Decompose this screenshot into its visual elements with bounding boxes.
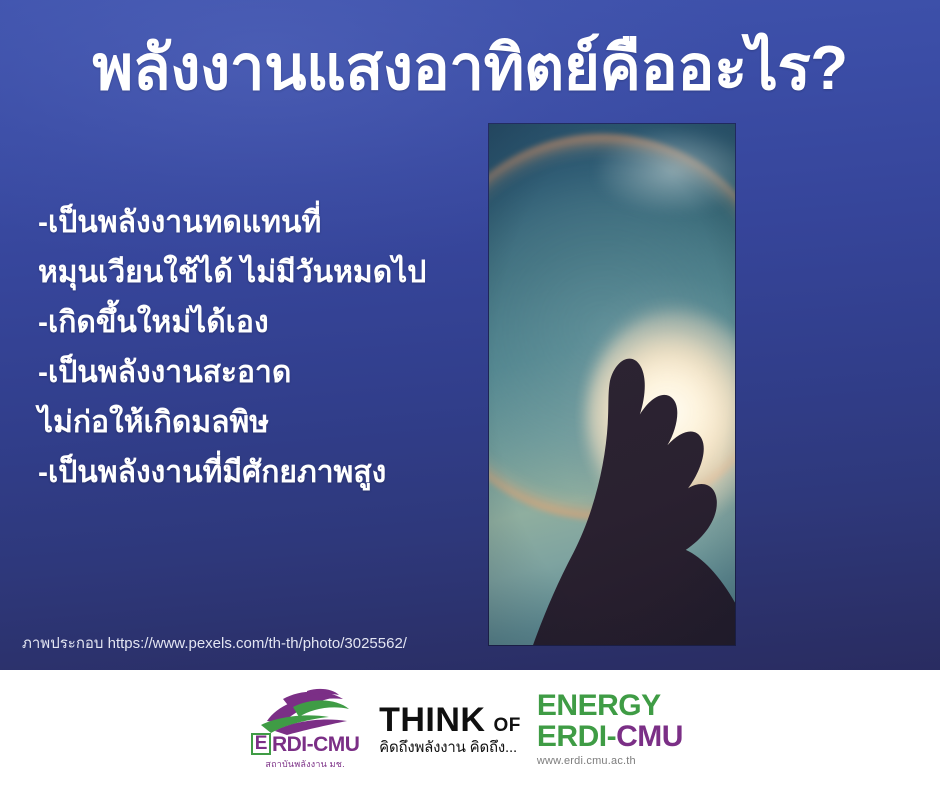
footer-logo-group: E RDI-CMU สถาบันพลังงาน มช. THINK OF คิด… [249,687,683,771]
globe-swoosh-icon [253,687,357,735]
think-word: THINK [379,702,485,738]
erdi-cmu-logo[interactable]: E RDI-CMU สถาบันพลังงาน มช. [249,687,361,771]
footer-bar: E RDI-CMU สถาบันพลังงาน มช. THINK OF คิด… [0,670,940,788]
erdi-thai-subtitle: สถาบันพลังงาน มช. [265,757,344,771]
energy-erdi-block: ENERGY ERDI-CMU www.erdi.cmu.ac.th [537,691,683,767]
poster-canvas: พลังงานแสงอาทิตย์คืออะไร? -เป็นพลังงานทด… [0,0,940,788]
erdi-website-url[interactable]: www.erdi.cmu.ac.th [537,755,683,767]
energy-word: ENERGY [537,691,683,721]
bullet-line-5: ไม่ก่อให้เกิดมลพิษ [38,398,468,448]
energy-cmu-purple: CMU [616,720,683,753]
erdi-wordmark: E RDI-CMU [251,733,360,755]
bullet-list: -เป็นพลังงานทดแทนที่ หมุนเวียนใช้ได้ ไม่… [38,198,468,498]
cloud-wisp [597,129,735,212]
source-caption: ภาพประกอบ https://www.pexels.com/th-th/p… [22,634,407,654]
photo-inner [489,124,735,645]
think-thai-subtitle: คิดถึงพลังงาน คิดถึง... [379,739,521,757]
bullet-line-6: -เป็นพลังงานที่มีศักยภาพสูง [38,448,468,498]
sun-halo-photo [489,124,735,645]
bullet-line-3: -เกิดขึ้นใหม่ได้เอง [38,298,468,348]
think-of-block: THINK OF คิดถึงพลังงาน คิดถึง... [379,702,521,757]
caption-thai-label: ภาพประกอบ [22,635,103,652]
erdi-wordmark-text: RDI-CMU [272,734,359,755]
bullet-line-4: -เป็นพลังงานสะอาด [38,348,468,398]
energy-erdi-cmu-line: ERDI-CMU [537,721,683,752]
caption-url[interactable]: https://www.pexels.com/th-th/photo/30255… [108,635,407,652]
page-title: พลังงานแสงอาทิตย์คืออะไร? [0,32,940,106]
hand-silhouette [509,353,735,645]
bullet-line-1: -เป็นพลังงานทดแทนที่ [38,198,468,248]
of-word: OF [494,715,521,737]
erdi-letter-e: E [251,733,271,755]
energy-erdi-green: ERDI- [537,720,616,753]
think-of-row: THINK OF [379,702,521,738]
bullet-line-2: หมุนเวียนใช้ได้ ไม่มีวันหมดไป [38,248,468,298]
